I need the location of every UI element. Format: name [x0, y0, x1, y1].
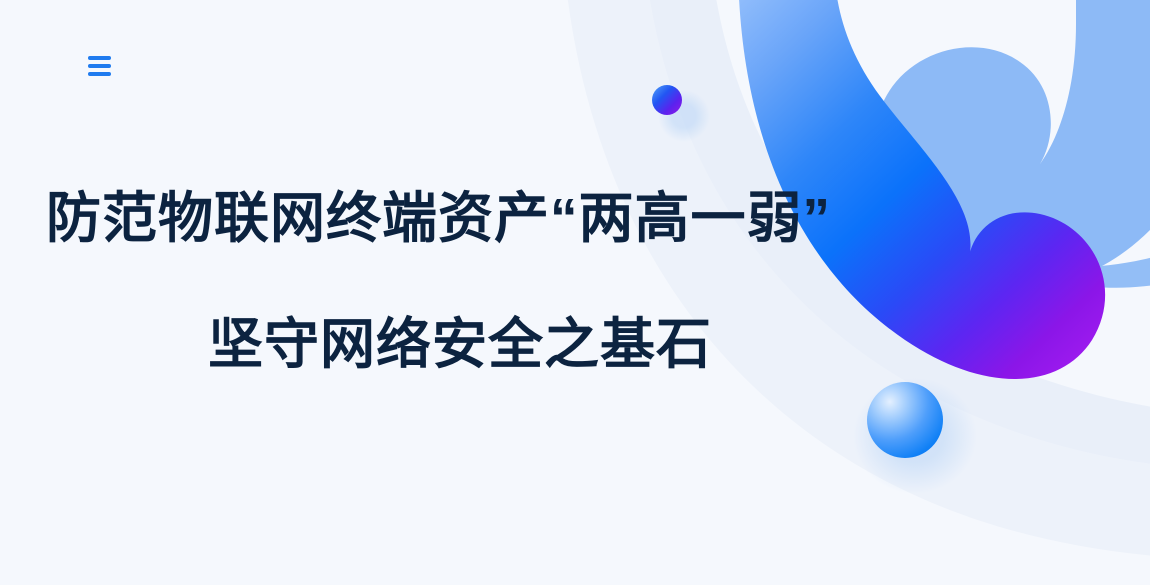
large-blue-sphere: [867, 382, 943, 458]
page-title: 防范物联网终端资产“两高一弱” 坚守网络安全之基石: [0, 182, 1150, 380]
hamburger-menu-icon-bar-2: [88, 64, 111, 68]
presentation-slide: 防范物联网终端资产“两高一弱” 坚守网络安全之基石: [0, 0, 1150, 585]
title-line-2: 坚守网络安全之基石: [208, 308, 1150, 380]
small-sphere-glow: [658, 90, 710, 142]
hamburger-menu-icon-bar-3: [88, 72, 111, 76]
title-line-1: 防范物联网终端资产“两高一弱”: [46, 182, 1150, 254]
large-sphere-glow: [853, 378, 977, 494]
small-gradient-sphere: [652, 85, 682, 115]
hamburger-menu-icon: [88, 56, 111, 60]
hamburger-menu-button[interactable]: [80, 48, 118, 84]
